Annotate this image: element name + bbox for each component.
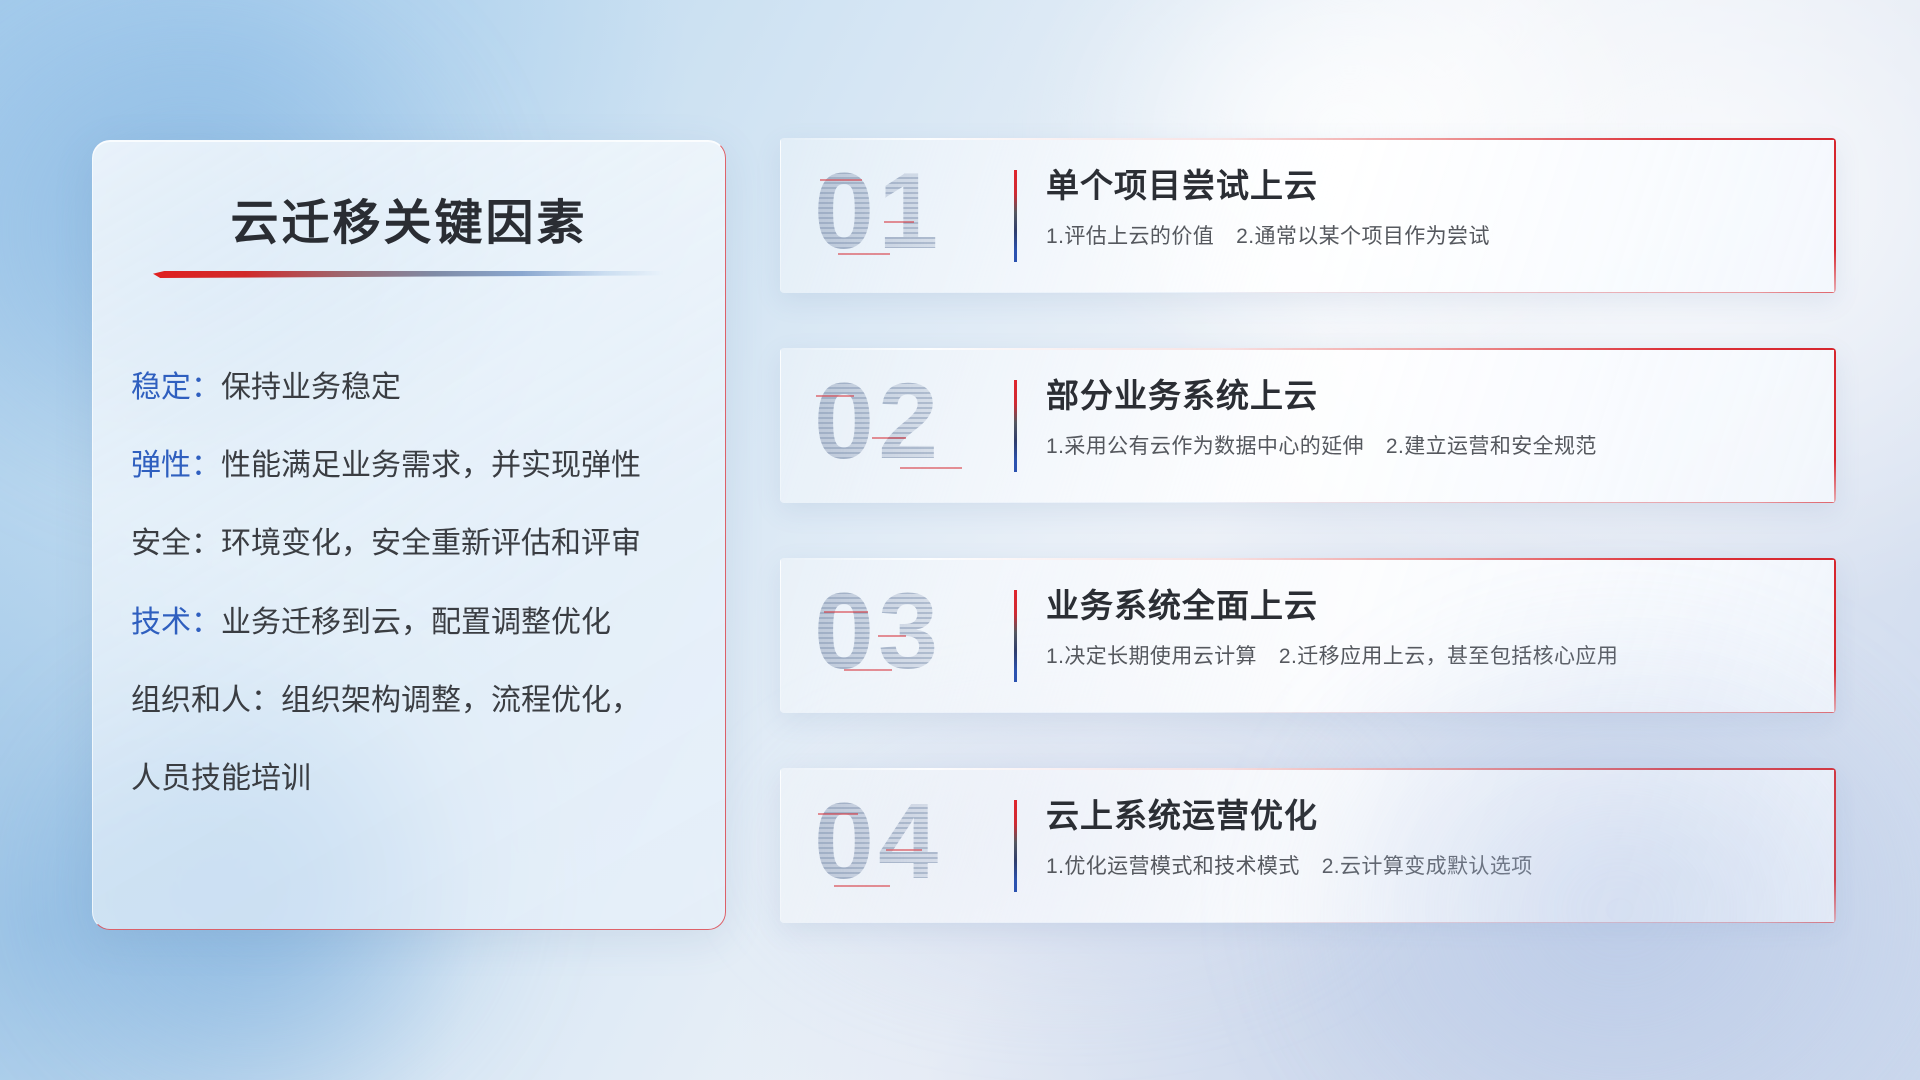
step-number-text: 02 (814, 367, 1004, 475)
step-number-text: 01 (814, 157, 1004, 265)
step-card[interactable]: 02 部分业务系统上云 1.采用公有云作为数据中心的延伸2.建立运营和安全规范 (780, 348, 1836, 503)
card-body: 云上系统运营优化 1.优化运营模式和技术模式2.云计算变成默认选项 (1046, 796, 1800, 880)
card-description-part-1: 1.优化运营模式和技术模式 (1046, 855, 1300, 878)
card-description: 1.决定长期使用云计算2.迁移应用上云，甚至包括核心应用 (1046, 640, 1800, 670)
factor-text: 人员技能培训 (131, 762, 311, 795)
card-description-part-2: 2.通常以某个项目作为尝试 (1236, 225, 1490, 248)
card-left-highlight (780, 348, 781, 503)
title-underline-rule (153, 271, 665, 278)
card-body: 单个项目尝试上云 1.评估上云的价值2.通常以某个项目作为尝试 (1046, 166, 1800, 250)
key-factors-panel: 云迁移关键因素 稳定：保持业务稳定 弹性：性能满足业务需求，并实现弹性 安全：环… (92, 140, 726, 930)
factor-text: 保持业务稳定 (221, 371, 401, 404)
card-body: 部分业务系统上云 1.采用公有云作为数据中心的延伸2.建立运营和安全规范 (1046, 376, 1800, 460)
panel-title: 云迁移关键因素 (93, 183, 725, 253)
step-number-watermark: 04 (814, 787, 1004, 905)
card-heading: 云上系统运营优化 (1046, 796, 1800, 836)
factor-row: 稳定：保持业务稳定 (131, 371, 701, 405)
step-card-list: 01 单个项目尝试上云 1.评估上云的价值2.通常以某个项目作为尝试 02 (780, 138, 1836, 923)
card-bottom-accent-line (780, 502, 1836, 503)
card-top-accent-line (780, 348, 1836, 350)
card-left-highlight (780, 558, 781, 713)
factor-label: 安全： (131, 527, 221, 560)
card-heading: 部分业务系统上云 (1046, 376, 1800, 416)
factor-row: 弹性：性能满足业务需求，并实现弹性 (131, 449, 701, 483)
step-number-watermark: 02 (814, 367, 1004, 485)
card-heading: 单个项目尝试上云 (1046, 166, 1800, 206)
step-number-watermark: 01 (814, 157, 1004, 275)
step-card[interactable]: 04 云上系统运营优化 1.优化运营模式和技术模式2.云计算变成默认选项 (780, 768, 1836, 923)
factor-row: 人员技能培训 (131, 762, 701, 796)
card-accent-divider (1014, 380, 1017, 472)
card-accent-divider (1014, 170, 1017, 262)
step-number-watermark: 03 (814, 577, 1004, 695)
slide-canvas: 云迁移关键因素 稳定：保持业务稳定 弹性：性能满足业务需求，并实现弹性 安全：环… (0, 0, 1920, 1080)
card-description: 1.优化运营模式和技术模式2.云计算变成默认选项 (1046, 850, 1800, 880)
card-bottom-accent-line (780, 712, 1836, 713)
card-right-accent-line (1834, 138, 1836, 293)
factor-label: 组织和人： (131, 684, 281, 717)
card-description-part-2: 2.建立运营和安全规范 (1386, 435, 1597, 458)
card-description: 1.采用公有云作为数据中心的延伸2.建立运营和安全规范 (1046, 430, 1800, 460)
factor-text: 组织架构调整，流程优化， (281, 684, 641, 717)
factor-row: 技术：业务迁移到云，配置调整优化 (131, 606, 701, 640)
factor-label: 弹性： (131, 449, 221, 482)
card-body: 业务系统全面上云 1.决定长期使用云计算2.迁移应用上云，甚至包括核心应用 (1046, 586, 1800, 670)
card-top-accent-line (780, 558, 1836, 560)
card-description-part-2: 2.云计算变成默认选项 (1322, 855, 1533, 878)
card-left-highlight (780, 138, 781, 293)
step-card[interactable]: 03 业务系统全面上云 1.决定长期使用云计算2.迁移应用上云，甚至包括核心应用 (780, 558, 1836, 713)
step-number-text: 04 (814, 787, 1004, 895)
card-right-accent-line (1834, 348, 1836, 503)
card-description-part-2: 2.迁移应用上云，甚至包括核心应用 (1279, 645, 1618, 668)
card-bottom-accent-line (780, 292, 1836, 293)
factor-label: 技术： (131, 606, 221, 639)
card-top-accent-line (780, 768, 1836, 770)
card-right-accent-line (1834, 768, 1836, 923)
card-description-part-1: 1.决定长期使用云计算 (1046, 645, 1257, 668)
factor-text: 业务迁移到云，配置调整优化 (221, 606, 611, 639)
factor-row: 组织和人：组织架构调整，流程优化， (131, 684, 701, 718)
factor-label: 稳定： (131, 371, 221, 404)
factor-row: 安全：环境变化，安全重新评估和评审 (131, 527, 701, 561)
card-description: 1.评估上云的价值2.通常以某个项目作为尝试 (1046, 220, 1800, 250)
factor-text: 性能满足业务需求，并实现弹性 (221, 449, 641, 482)
step-number-text: 03 (814, 577, 1004, 685)
card-heading: 业务系统全面上云 (1046, 586, 1800, 626)
factor-list: 稳定：保持业务稳定 弹性：性能满足业务需求，并实现弹性 安全：环境变化，安全重新… (131, 371, 701, 796)
card-accent-divider (1014, 590, 1017, 682)
card-description-part-1: 1.评估上云的价值 (1046, 225, 1214, 248)
card-bottom-accent-line (780, 922, 1836, 923)
step-card[interactable]: 01 单个项目尝试上云 1.评估上云的价值2.通常以某个项目作为尝试 (780, 138, 1836, 293)
card-right-accent-line (1834, 558, 1836, 713)
card-description-part-1: 1.采用公有云作为数据中心的延伸 (1046, 435, 1364, 458)
card-left-highlight (780, 768, 781, 923)
card-top-accent-line (780, 138, 1836, 140)
card-accent-divider (1014, 800, 1017, 892)
factor-text: 环境变化，安全重新评估和评审 (221, 527, 641, 560)
